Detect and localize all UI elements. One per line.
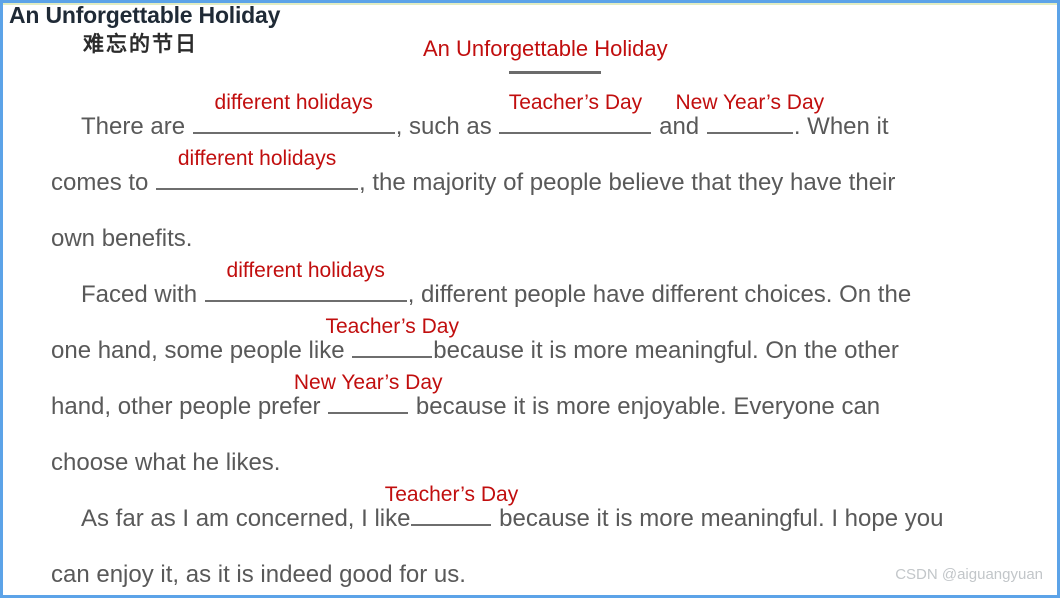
slide-title-chinese: 难忘的节日 <box>83 29 280 59</box>
essay-text-run: choose what he likes. <box>51 449 280 476</box>
essay-text-run: can enjoy it, as it is indeed good for u… <box>51 561 466 588</box>
essay-text-run: , such as <box>396 113 499 140</box>
essay-line: choose what he likes. <box>51 435 1047 491</box>
essay-text-run: As far as I am concerned, I like <box>81 505 410 532</box>
slide-title-english: An Unforgettable Holiday <box>9 1 280 29</box>
essay-line: As far as I am concerned, I likeTeacher’… <box>51 491 1047 547</box>
essay-line: hand, other people prefer New Year’s Day… <box>51 379 1047 435</box>
fill-in-blank[interactable]: New Year’s Day <box>707 106 793 134</box>
essay-line: one hand, some people like Teacher’s Day… <box>51 323 1047 379</box>
fill-in-blank[interactable]: Teacher’s Day <box>411 498 491 526</box>
fill-in-blank[interactable]: New Year’s Day <box>328 386 408 414</box>
essay-text-run: and <box>652 113 705 140</box>
essay-text-run: because it is more meaningful. I hope yo… <box>492 505 943 532</box>
blank-answer: New Year’s Day <box>294 372 443 393</box>
blank-answer: different holidays <box>178 148 336 169</box>
fill-in-blank[interactable]: different holidays <box>205 274 407 302</box>
essay-text-run: There are <box>81 113 192 140</box>
blank-answer: Teacher’s Day <box>325 316 458 337</box>
blank-answer: Teacher’s Day <box>385 484 518 505</box>
essay-text-run: because it is more meaningful. On the ot… <box>433 337 899 364</box>
slide-canvas: An Unforgettable Holiday 难忘的节日 An Unforg… <box>0 0 1060 598</box>
essay-heading-blank <box>509 71 601 74</box>
slide-title-block: An Unforgettable Holiday 难忘的节日 <box>9 1 280 59</box>
essay-text-run: comes to <box>51 169 155 196</box>
watermark: CSDN @aiguangyuan <box>895 566 1043 583</box>
essay-body: There are different holidays, such as Te… <box>51 99 1047 598</box>
essay-line: Faced with different holidays, different… <box>51 267 1047 323</box>
fill-in-blank[interactable]: different holidays <box>156 162 358 190</box>
blank-answer: different holidays <box>227 260 385 281</box>
fill-in-blank[interactable]: different holidays <box>193 106 395 134</box>
essay-text-run: , the majority of people believe that th… <box>359 169 895 196</box>
essay-line: own benefits. <box>51 211 1047 267</box>
essay-text-run: own benefits. <box>51 225 192 252</box>
essay-text-run: one hand, some people like <box>51 337 351 364</box>
essay-heading: An Unforgettable Holiday <box>423 36 668 62</box>
essay-text-run: . When it <box>794 113 889 140</box>
essay-line: comes to different holidays, the majorit… <box>51 155 1047 211</box>
essay-text-run: because it is more enjoyable. Everyone c… <box>409 393 880 420</box>
blank-answer: different holidays <box>215 92 373 113</box>
blank-answer: Teacher’s Day <box>509 92 642 113</box>
essay-text-run: , different people have different choice… <box>408 281 911 308</box>
fill-in-blank[interactable]: Teacher’s Day <box>499 106 651 134</box>
fill-in-blank[interactable]: Teacher’s Day <box>352 330 432 358</box>
blank-answer: New Year’s Day <box>676 92 825 113</box>
essay-text-run: hand, other people prefer <box>51 393 327 420</box>
essay-text-run: Faced with <box>81 281 204 308</box>
